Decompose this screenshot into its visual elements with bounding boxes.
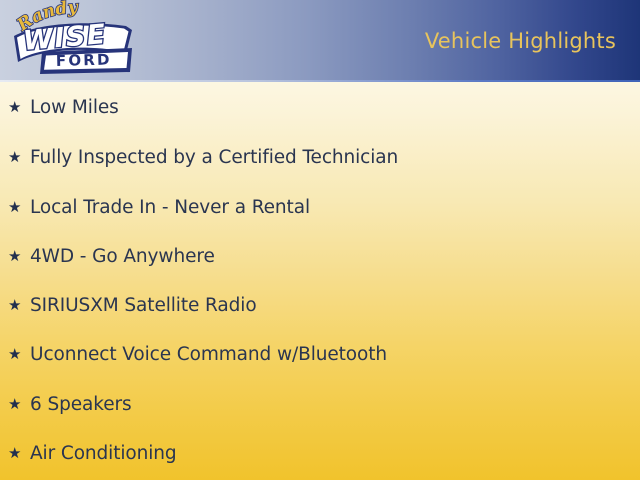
list-item: ★ SIRIUSXM Satellite Radio xyxy=(8,292,257,318)
list-item-label: Low Miles xyxy=(30,97,119,118)
list-item-label: Local Trade In - Never a Rental xyxy=(30,197,310,218)
list-item: ★ Uconnect Voice Command w/Bluetooth xyxy=(8,341,387,367)
star-icon: ★ xyxy=(8,100,30,115)
star-icon: ★ xyxy=(8,446,30,461)
vehicle-highlights-slide: WISE Randy FORD Vehicle Highlights ★ Low… xyxy=(0,0,640,480)
logo-banner-word: FORD xyxy=(56,51,112,70)
list-item-label: Uconnect Voice Command w/Bluetooth xyxy=(30,344,387,365)
page-title: Vehicle Highlights xyxy=(425,29,616,53)
list-item: ★ 6 Speakers xyxy=(8,391,132,417)
dealer-logo: WISE Randy FORD xyxy=(6,0,138,80)
list-item-label: 4WD - Go Anywhere xyxy=(30,246,215,267)
star-icon: ★ xyxy=(8,200,30,215)
list-item: ★ Air Conditioning xyxy=(8,440,177,466)
star-icon: ★ xyxy=(8,150,30,165)
list-item: ★ Low Miles xyxy=(8,94,119,120)
list-item-label: SIRIUSXM Satellite Radio xyxy=(30,295,257,316)
list-item-label: Fully Inspected by a Certified Technicia… xyxy=(30,147,398,168)
star-icon: ★ xyxy=(8,298,30,313)
list-item: ★ 4WD - Go Anywhere xyxy=(8,243,215,269)
header-bar: WISE Randy FORD Vehicle Highlights xyxy=(0,0,640,82)
list-item: ★ Local Trade In - Never a Rental xyxy=(8,194,310,220)
star-icon: ★ xyxy=(8,347,30,362)
list-item: ★ Fully Inspected by a Certified Technic… xyxy=(8,144,398,170)
highlights-list: ★ Low Miles ★ Fully Inspected by a Certi… xyxy=(0,82,640,480)
star-icon: ★ xyxy=(8,249,30,264)
list-item-label: 6 Speakers xyxy=(30,394,132,415)
list-item-label: Air Conditioning xyxy=(30,443,177,464)
star-icon: ★ xyxy=(8,397,30,412)
